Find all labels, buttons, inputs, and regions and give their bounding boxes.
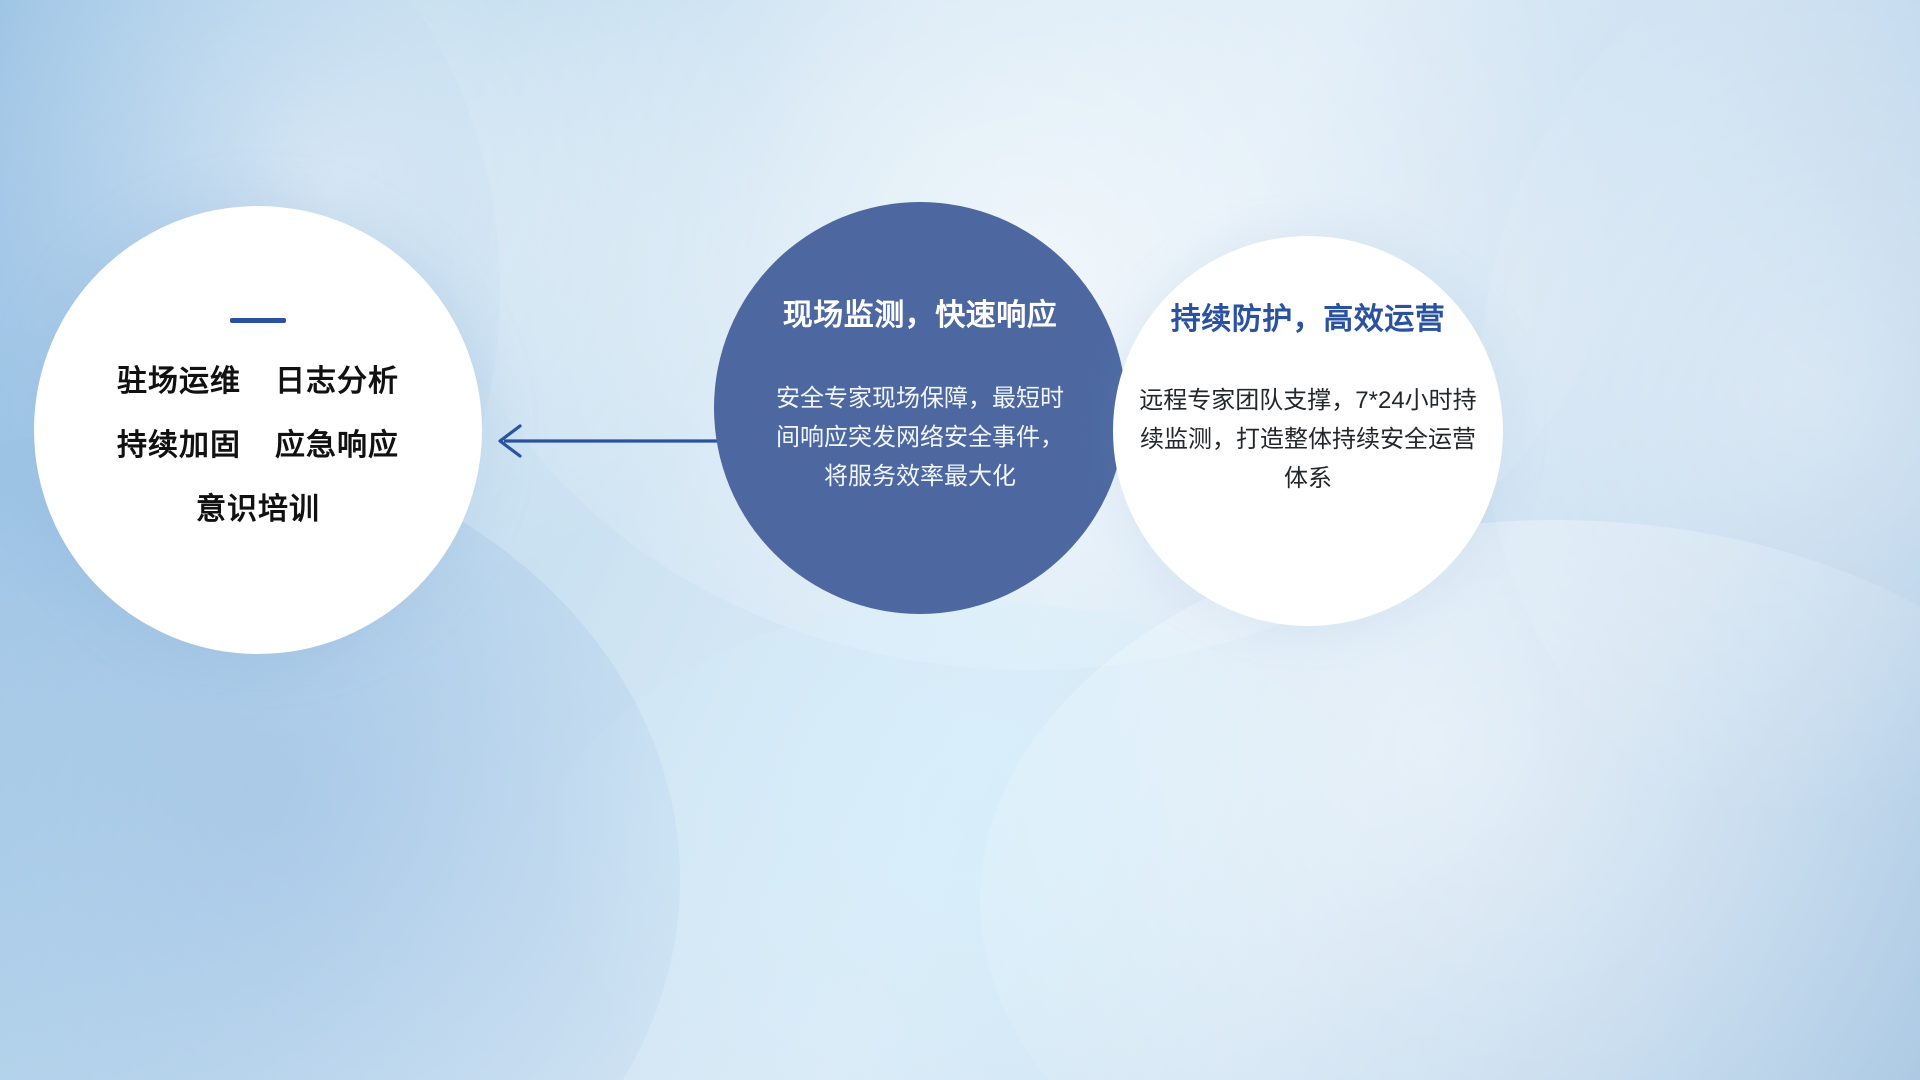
capability-circle-middle[interactable]: 现场监测，快速响应 安全专家现场保障，最短时间响应突发网络安全事件，将服务效率最… [714, 202, 1126, 614]
flow-arrow-left-icon [490, 418, 720, 464]
keyword-item[interactable]: 应急响应 [275, 431, 399, 461]
capability-circle-left[interactable]: 驻场运维 日志分析 持续加固 应急响应 意识培训 [34, 206, 482, 654]
background-bloom-bottom-right [980, 520, 1920, 1080]
accent-divider-dash [230, 318, 286, 323]
keyword-row: 意识培训 [68, 495, 448, 525]
keyword-item[interactable]: 持续加固 [117, 431, 241, 461]
background-bloom-right [1480, 0, 1920, 840]
capability-circle-middle-title: 现场监测，快速响应 [783, 290, 1058, 334]
keyword-row: 持续加固 应急响应 [68, 431, 448, 461]
capability-circle-middle-body: 安全专家现场保障，最短时间响应突发网络安全事件，将服务效率最大化 [770, 380, 1070, 497]
slide-canvas: 驻场运维 日志分析 持续加固 应急响应 意识培训 现场监测，快速响应 安全专家现… [0, 0, 1920, 1080]
keyword-item[interactable]: 驻场运维 [117, 367, 241, 397]
keyword-row: 驻场运维 日志分析 [68, 367, 448, 397]
background-bloom-bottom-cyan [520, 600, 1420, 1080]
capability-circle-right-body: 远程专家团队支撑，7*24小时持续监测，打造整体持续安全运营体系 [1132, 382, 1484, 499]
keyword-item[interactable]: 意识培训 [196, 495, 320, 525]
capability-circle-right-title: 持续防护，高效运营 [1171, 294, 1446, 338]
capability-circle-left-content: 驻场运维 日志分析 持续加固 应急响应 意识培训 [68, 206, 448, 525]
keyword-item[interactable]: 日志分析 [275, 367, 399, 397]
capability-circle-right[interactable]: 持续防护，高效运营 远程专家团队支撑，7*24小时持续监测，打造整体持续安全运营… [1113, 236, 1503, 626]
